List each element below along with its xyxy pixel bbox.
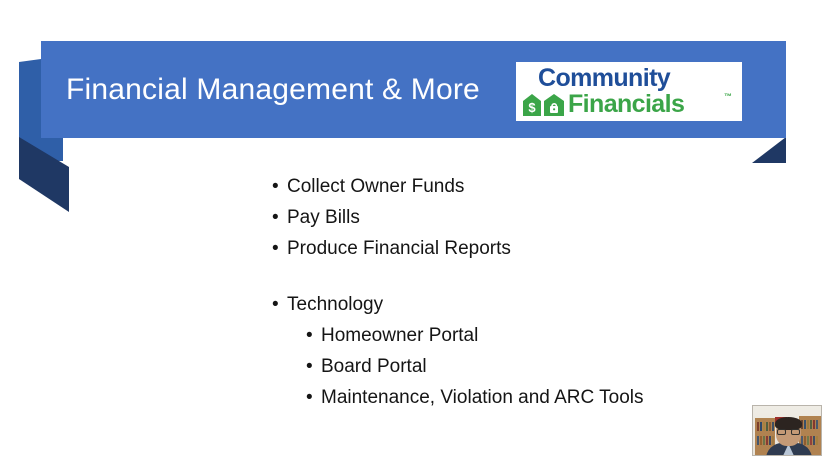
list-item-label: Board Portal bbox=[321, 354, 427, 380]
books-left-top bbox=[757, 422, 774, 431]
bullet-dot-icon: • bbox=[272, 292, 287, 318]
list-item-label: Collect Owner Funds bbox=[287, 174, 464, 200]
house-dollar-icon: $ bbox=[523, 94, 541, 116]
list-item-label: Pay Bills bbox=[287, 205, 360, 231]
presentation-slide: Financial Management & More Community $ bbox=[0, 0, 826, 459]
bullet-dot-icon: • bbox=[306, 354, 321, 380]
list-item-label: Technology bbox=[287, 292, 383, 318]
list-item-label: Maintenance, Violation and ARC Tools bbox=[321, 385, 644, 411]
page-title: Financial Management & More bbox=[66, 68, 496, 112]
list-item: • Pay Bills bbox=[272, 205, 792, 231]
bullet-list: • Collect Owner Funds • Pay Bills • Prod… bbox=[272, 174, 792, 416]
books-left-bottom bbox=[757, 436, 774, 445]
list-item: • Produce Financial Reports bbox=[272, 236, 792, 262]
bullet-dot-icon: • bbox=[272, 205, 287, 231]
bullet-dot-icon: • bbox=[306, 385, 321, 411]
logo-text-financials: Financials bbox=[568, 90, 684, 118]
list-item: • Homeowner Portal bbox=[272, 323, 792, 349]
books-right-bottom bbox=[801, 436, 818, 445]
books-right-top bbox=[801, 420, 818, 429]
logo-house-icons: $ bbox=[522, 93, 566, 117]
bullet-dot-icon: • bbox=[272, 174, 287, 200]
community-financials-logo: Community $ bbox=[516, 62, 742, 121]
logo-text-community: Community bbox=[538, 64, 670, 92]
list-item: • Board Portal bbox=[272, 354, 792, 380]
logo-trademark-symbol: ™ bbox=[724, 92, 732, 101]
bullet-dot-icon: • bbox=[306, 323, 321, 349]
presenter-video-thumbnail[interactable] bbox=[752, 405, 822, 456]
ribbon-right-tail bbox=[752, 137, 786, 163]
presenter-glasses bbox=[777, 429, 800, 435]
svg-text:$: $ bbox=[528, 100, 536, 115]
house-lock-icon bbox=[544, 94, 564, 116]
list-item-label: Homeowner Portal bbox=[321, 323, 478, 349]
bullet-dot-icon: • bbox=[272, 236, 287, 262]
list-item: • Maintenance, Violation and ARC Tools bbox=[272, 385, 792, 411]
list-item-label: Produce Financial Reports bbox=[287, 236, 511, 262]
list-item: • Technology bbox=[272, 292, 792, 318]
list-spacer bbox=[272, 267, 792, 292]
list-item: • Collect Owner Funds bbox=[272, 174, 792, 200]
